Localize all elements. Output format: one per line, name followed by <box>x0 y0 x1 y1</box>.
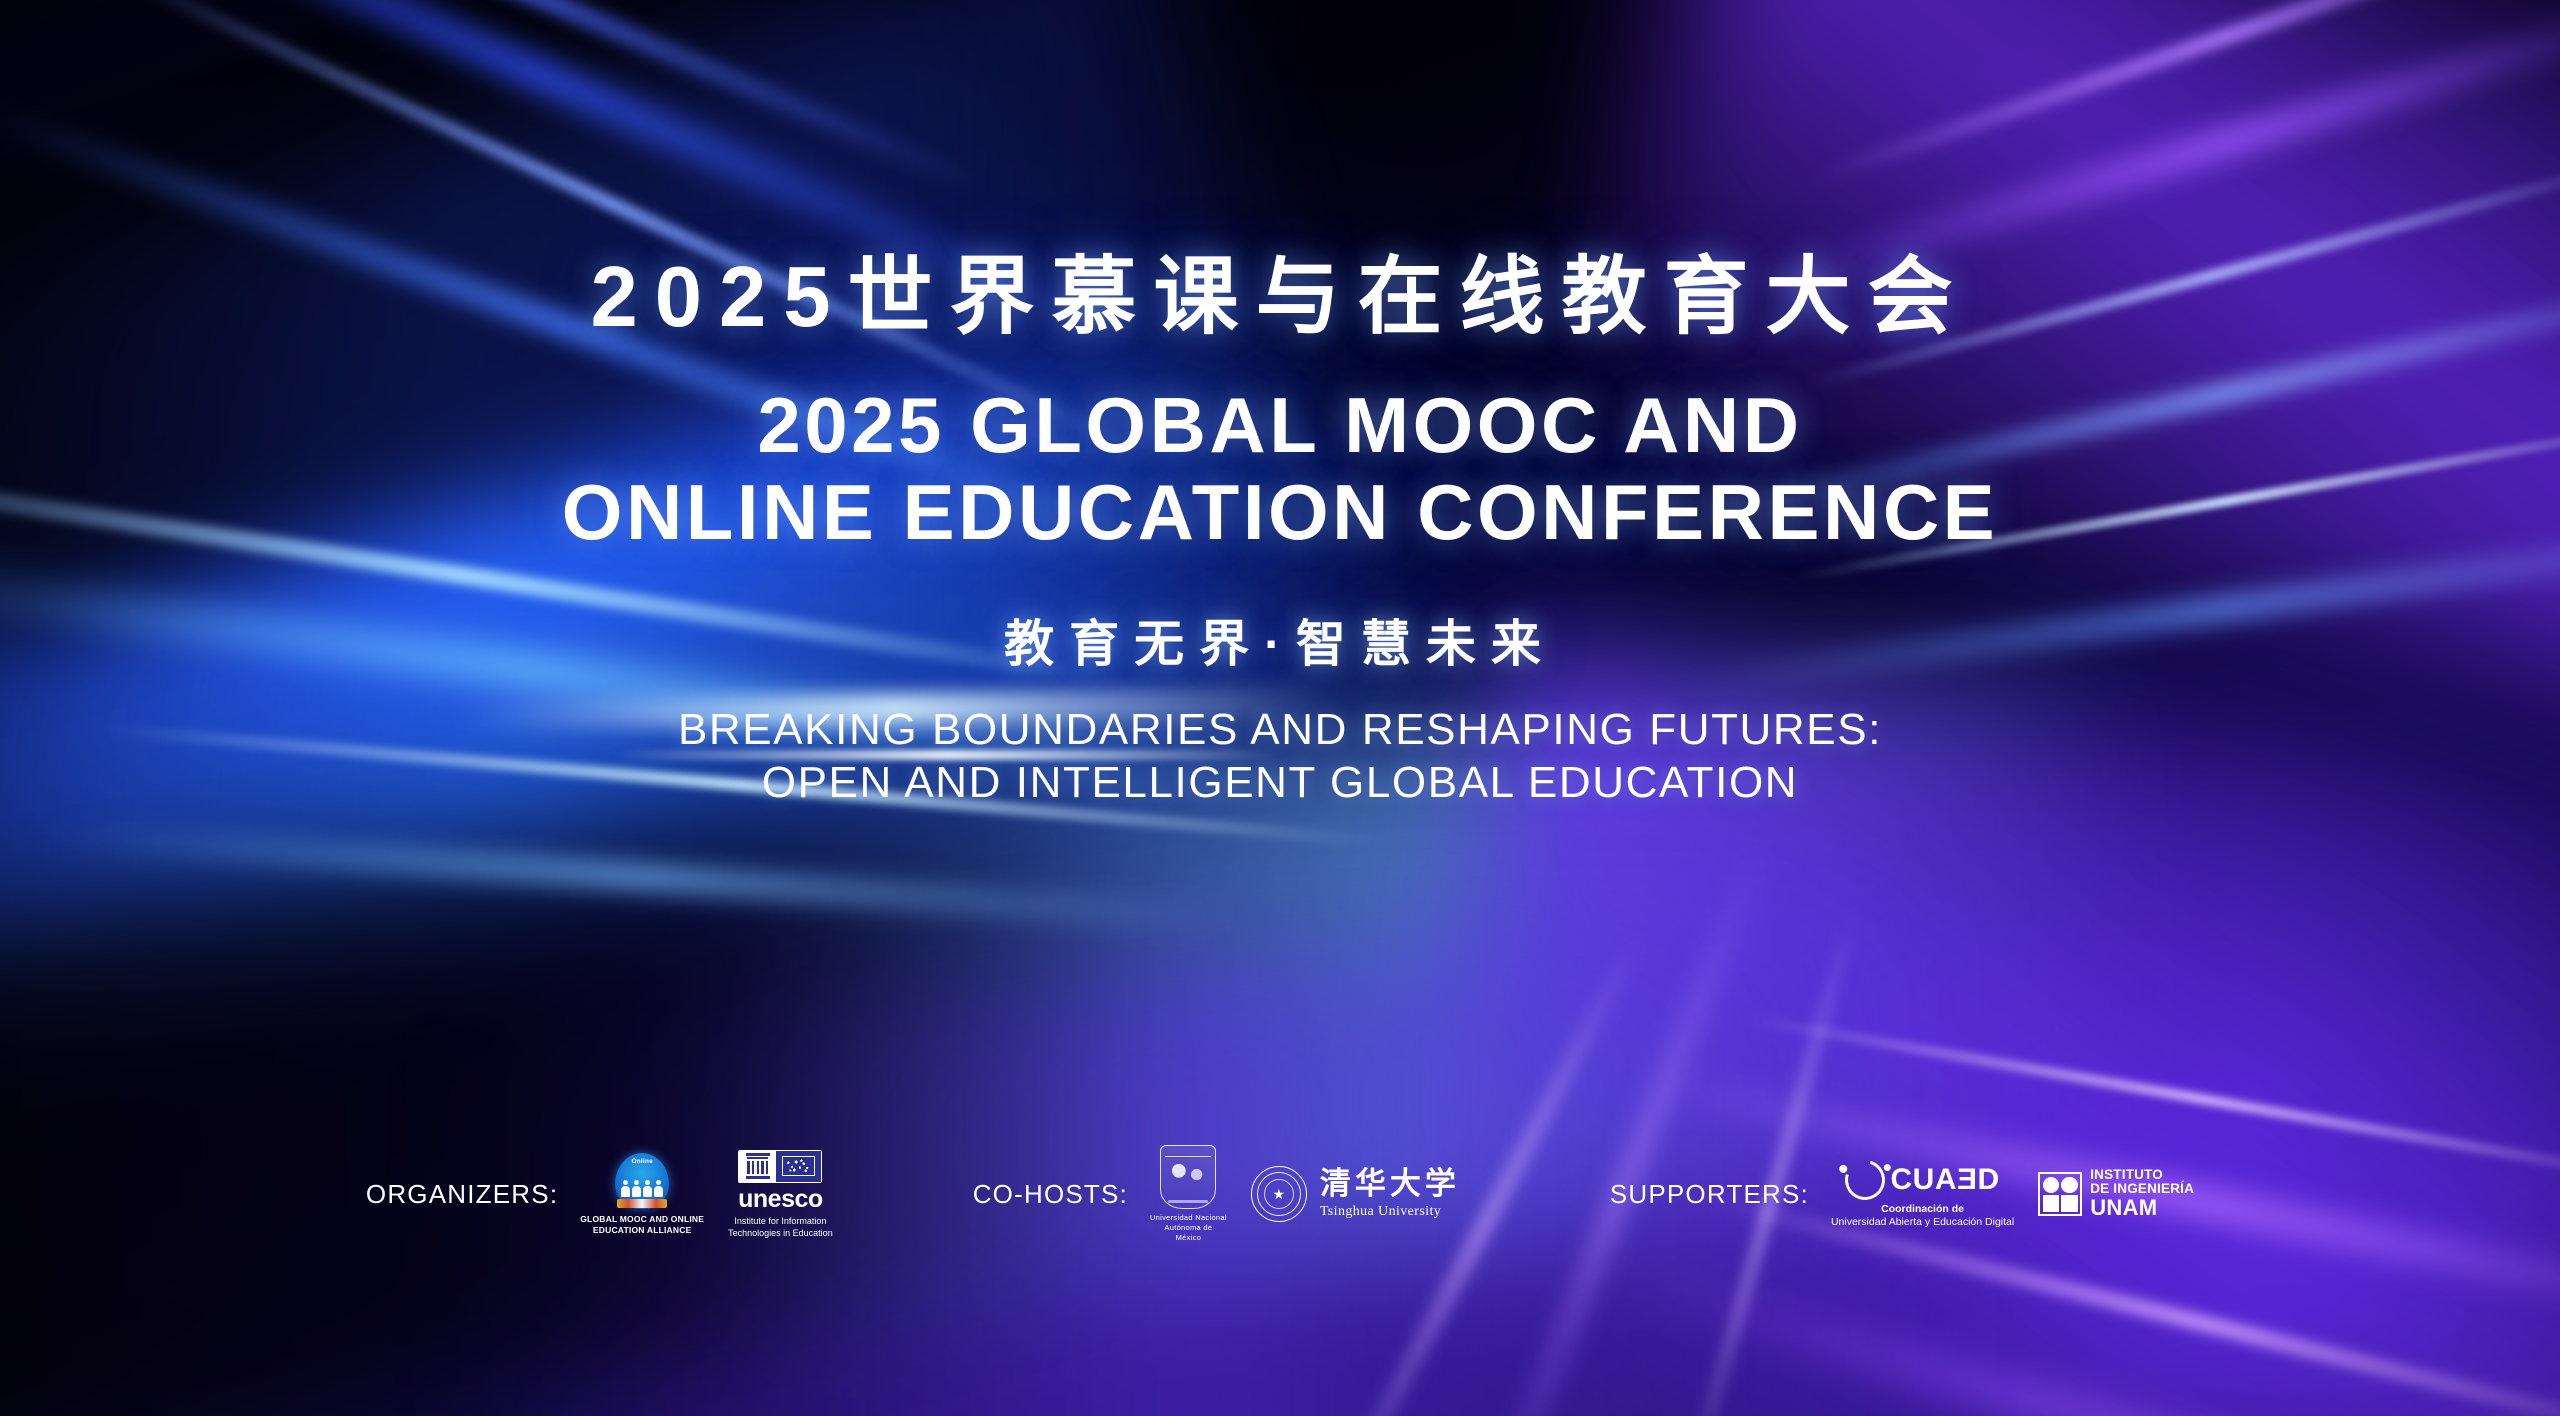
conference-title-english-line-1: 2025 GLOBAL MOOC AND <box>562 382 1998 469</box>
star-icon: ★ <box>1273 1187 1286 1201</box>
unesco-iite-caption-line-1: Institute for Information <box>728 1215 833 1227</box>
conference-banner: 2025世界慕课与在线教育大会 2025 GLOBAL MOOC AND ONL… <box>0 0 2560 1416</box>
unesco-emblem-icon <box>738 1150 822 1183</box>
global-mooc-alliance-caption-line-2: EDUCATION ALLIANCE <box>580 1225 704 1236</box>
conference-tagline-english-line-1: BREAKING BOUNDARIES AND RESHAPING FUTURE… <box>678 703 1882 757</box>
instituto-de-ingenieria-unam-logo[interactable]: INSTITUTO DE INGENIERÍA UNAM <box>2038 1168 2194 1220</box>
organizers-group: ORGANIZERS: Online GLOBAL M <box>366 1150 833 1239</box>
instituto-wordmark-line-3: UNAM <box>2090 1197 2194 1220</box>
global-mooc-alliance-caption-line-1: GLOBAL MOOC AND ONLINE <box>580 1214 704 1225</box>
ribbon-icon <box>617 1199 667 1208</box>
conference-tagline-english: BREAKING BOUNDARIES AND RESHAPING FUTURE… <box>678 703 1882 810</box>
unesco-temple-icon <box>739 1151 776 1182</box>
instituto-wordmark: INSTITUTO DE INGENIERÍA UNAM <box>2090 1168 2194 1220</box>
global-mooc-alliance-caption: GLOBAL MOOC AND ONLINE EDUCATION ALLIANC… <box>580 1214 704 1236</box>
conference-title-chinese: 2025世界慕课与在线教育大会 <box>590 255 1969 340</box>
global-mooc-alliance-icon: Online <box>615 1153 669 1209</box>
co-hosts-logos: Universidad Nacional Autónoma de México … <box>1150 1145 1460 1243</box>
unesco-iite-caption-line-2: Technologies in Education <box>728 1227 833 1239</box>
global-mooc-alliance-online-text: Online <box>631 1158 652 1165</box>
global-mooc-alliance-logo[interactable]: Online GLOBAL MOOC AND ONLINE EDUCATION … <box>580 1153 704 1236</box>
supporters-label: SUPPORTERS: <box>1610 1179 1809 1210</box>
unam-shield-icon <box>1160 1145 1216 1209</box>
conference-tagline-chinese: 教育无界·智慧未来 <box>1004 619 1556 669</box>
tsinghua-seal-icon: ★ <box>1251 1166 1307 1222</box>
unesco-iite-logo[interactable]: unesco Institute for Information Technol… <box>728 1150 833 1239</box>
cuaed-wordmark-row: CUAƎD <box>1845 1160 1999 1200</box>
cuaed-logo[interactable]: CUAƎD Coordinación de Universidad Abiert… <box>1831 1160 2014 1228</box>
organizers-label: ORGANIZERS: <box>366 1179 558 1210</box>
instituto-wordmark-line-2: DE INGENIERÍA <box>2090 1182 2194 1196</box>
co-hosts-label: CO-HOSTS: <box>973 1179 1128 1210</box>
co-hosts-group: CO-HOSTS: Universidad Nacional Autónoma … <box>973 1145 1460 1243</box>
unam-caption-line-3: México <box>1150 1233 1227 1243</box>
instituto-grid-icon <box>2038 1172 2082 1216</box>
tsinghua-university-logo[interactable]: ★ 清华大学 Tsinghua University <box>1251 1166 1460 1222</box>
unam-caption: Universidad Nacional Autónoma de México <box>1150 1213 1227 1243</box>
supporters-logos: CUAƎD Coordinación de Universidad Abiert… <box>1831 1160 2194 1228</box>
unam-logo[interactable]: Universidad Nacional Autónoma de México <box>1150 1145 1227 1243</box>
instituto-wordmark-line-1: INSTITUTO <box>2090 1168 2194 1182</box>
conference-title-english-line-2: ONLINE EDUCATION CONFERENCE <box>562 469 1998 556</box>
organizers-logos: Online GLOBAL MOOC AND ONLINE EDUCATION … <box>580 1150 832 1239</box>
unesco-iite-caption: Institute for Information Technologies i… <box>728 1215 833 1239</box>
tsinghua-wordmark: 清华大学 Tsinghua University <box>1320 1169 1460 1220</box>
partners-strip: ORGANIZERS: Online GLOBAL M <box>0 1145 2560 1243</box>
conference-title-english: 2025 GLOBAL MOOC AND ONLINE EDUCATION CO… <box>562 382 1998 557</box>
cuaed-ring-icon <box>1838 1153 1892 1207</box>
supporters-group: SUPPORTERS: CUAƎD Coordinación de Univer… <box>1610 1160 2194 1228</box>
cuaed-wordmark: CUAƎD <box>1890 1165 1999 1195</box>
cuaed-caption-line-2: Universidad Abierta y Educación Digital <box>1831 1216 2014 1228</box>
cuaed-caption-line-1: Coordinación de <box>1881 1203 1964 1215</box>
tsinghua-wordmark-chinese: 清华大学 <box>1320 1169 1460 1200</box>
unesco-iite-network-icon <box>776 1151 821 1182</box>
conference-tagline-english-line-2: OPEN AND INTELLIGENT GLOBAL EDUCATION <box>678 756 1882 810</box>
people-icon <box>615 1180 669 1197</box>
unesco-wordmark: unesco <box>738 1187 823 1212</box>
unam-caption-line-2: Autónoma de <box>1150 1223 1227 1233</box>
tsinghua-wordmark-english: Tsinghua University <box>1320 1204 1460 1220</box>
unam-caption-line-1: Universidad Nacional <box>1150 1213 1227 1223</box>
